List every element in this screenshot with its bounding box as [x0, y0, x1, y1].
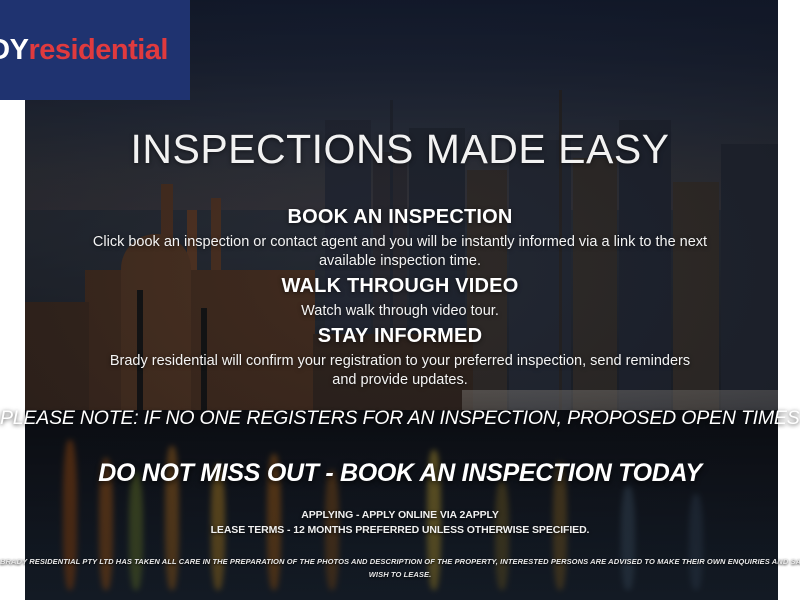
section-body-line-1: Brady residential will confirm your regi…: [60, 352, 740, 371]
section-stay-informed: STAY INFORMED Brady residential will con…: [60, 325, 740, 390]
page-title: INSPECTIONS MADE EASY: [0, 126, 800, 173]
terms-line-lease: LEASE TERMS - 12 MONTHS PREFERRED UNLESS…: [0, 523, 800, 538]
section-book-an-inspection: BOOK AN INSPECTION Click book an inspect…: [60, 206, 740, 271]
section-body: Click book an inspection or contact agen…: [60, 233, 740, 271]
call-to-action-text: DO NOT MISS OUT - BOOK AN INSPECTION TOD…: [0, 459, 800, 488]
section-body-line-1: Watch walk through video tour.: [60, 302, 740, 321]
disclaimer-line-1: BRADY RESIDENTIAL PTY LTD HAS TAKEN ALL …: [0, 556, 800, 569]
section-title: WALK THROUGH VIDEO: [60, 275, 740, 298]
section-body: Brady residential will confirm your regi…: [60, 352, 740, 390]
logo-wordmark: residential: [28, 34, 168, 66]
section-title: STAY INFORMED: [60, 325, 740, 348]
inspection-banner: DYresidential INSPECTIONS MADE EASY BOOK…: [0, 0, 800, 600]
terms-text: APPLYING - APPLY ONLINE VIA 2APPLY LEASE…: [0, 508, 800, 538]
brady-residential-logo[interactable]: DYresidential: [0, 0, 190, 100]
disclaimer-line-2: WISH TO LEASE.: [0, 569, 800, 582]
section-body-line-2: and provide updates.: [60, 371, 740, 390]
section-body-line-1: Click book an inspection or contact agen…: [60, 233, 740, 252]
terms-line-applying: APPLYING - APPLY ONLINE VIA 2APPLY: [0, 508, 800, 523]
section-body-line-2: available inspection time.: [60, 252, 740, 271]
section-body: Watch walk through video tour.: [60, 302, 740, 321]
please-note-text: PLEASE NOTE: IF NO ONE REGISTERS FOR AN …: [0, 407, 800, 430]
legal-disclaimer: BRADY RESIDENTIAL PTY LTD HAS TAKEN ALL …: [0, 556, 800, 582]
section-title: BOOK AN INSPECTION: [60, 206, 740, 229]
logo-mark: DY: [0, 34, 28, 66]
section-walk-through-video: WALK THROUGH VIDEO Watch walk through vi…: [60, 275, 740, 321]
